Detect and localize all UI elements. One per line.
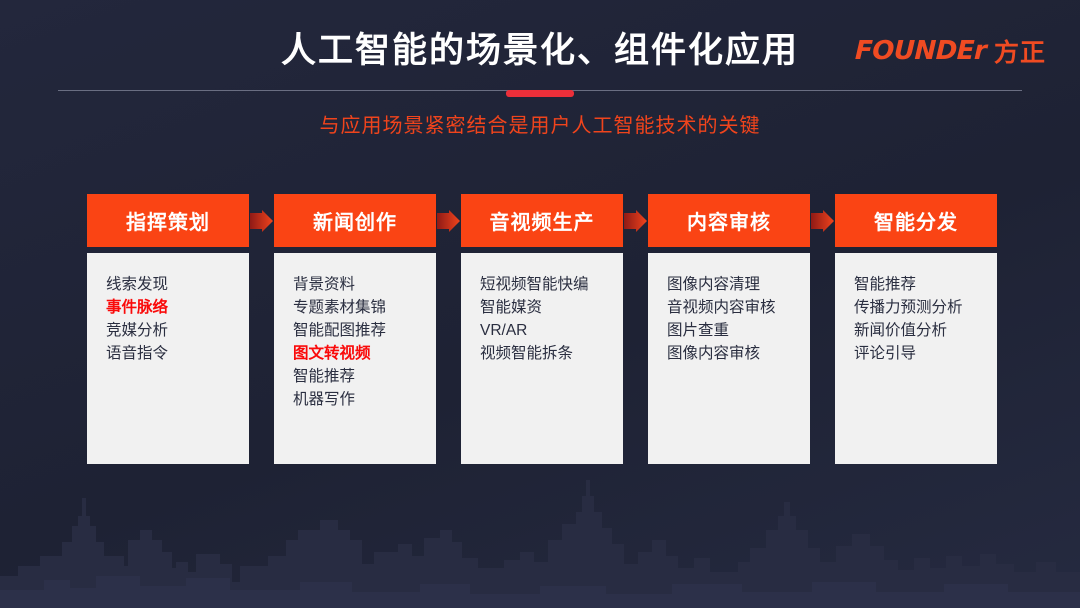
feature-item[interactable]: 线索发现 [106,273,249,296]
pipeline-card-header[interactable]: 新闻创作 [274,194,436,247]
city-skyline-decoration [0,468,1080,608]
flow-arrow-icon [437,210,460,232]
feature-item[interactable]: 智能配图推荐 [293,319,436,342]
pipeline-card-title: 新闻创作 [313,206,397,235]
pipeline-card-header[interactable]: 指挥策划 [87,194,249,247]
feature-item-highlighted[interactable]: 事件脉络 [106,296,249,319]
founder-logo: FOUNDEr 方正 [855,33,1046,69]
feature-item[interactable]: 短视频智能快编 [480,273,623,296]
feature-item[interactable]: 传播力预测分析 [854,296,997,319]
pipeline-card: 音视频生产短视频智能快编智能媒资VR/AR视频智能拆条 [461,194,623,464]
flow-arrow-icon [250,210,273,232]
pipeline-card-body: 背景资料专题素材集锦智能配图推荐图文转视频智能推荐机器写作 [274,253,436,464]
feature-item[interactable]: 专题素材集锦 [293,296,436,319]
logo-chinese-name: 方正 [994,33,1046,69]
feature-item[interactable]: 语音指令 [106,342,249,365]
page-subtitle: 与应用场景紧密结合是用户人工智能技术的关键 [0,109,1080,138]
feature-item[interactable]: 评论引导 [854,342,997,365]
feature-item[interactable]: VR/AR [480,319,623,342]
pipeline-card-body: 线索发现事件脉络竞媒分析语音指令 [87,253,249,464]
pipeline-card-title: 音视频生产 [490,206,595,235]
pipeline-card: 智能分发智能推荐传播力预测分析新闻价值分析评论引导 [835,194,997,464]
pipeline-card: 指挥策划线索发现事件脉络竞媒分析语音指令 [87,194,249,464]
feature-item-highlighted[interactable]: 图文转视频 [293,342,436,365]
pipeline-card: 新闻创作背景资料专题素材集锦智能配图推荐图文转视频智能推荐机器写作 [274,194,436,464]
pipeline-card-header[interactable]: 音视频生产 [461,194,623,247]
feature-item[interactable]: 图像内容清理 [667,273,810,296]
pipeline-card-title: 内容审核 [687,206,771,235]
feature-item[interactable]: 视频智能拆条 [480,342,623,365]
feature-item[interactable]: 竞媒分析 [106,319,249,342]
flow-arrow-icon [624,210,647,232]
feature-item[interactable]: 新闻价值分析 [854,319,997,342]
logo-wordmark: FOUNDEr [854,36,986,66]
feature-item[interactable]: 智能媒资 [480,296,623,319]
pipeline-card-row: 指挥策划线索发现事件脉络竞媒分析语音指令新闻创作背景资料专题素材集锦智能配图推荐… [87,194,998,464]
feature-item[interactable]: 智能推荐 [854,273,997,296]
feature-item[interactable]: 图片查重 [667,319,810,342]
feature-item[interactable]: 音视频内容审核 [667,296,810,319]
header-divider-accent [506,90,574,97]
feature-item[interactable]: 智能推荐 [293,365,436,388]
feature-item[interactable]: 机器写作 [293,388,436,411]
pipeline-card-header[interactable]: 智能分发 [835,194,997,247]
pipeline-card-header[interactable]: 内容审核 [648,194,810,247]
pipeline-card-body: 图像内容清理音视频内容审核图片查重图像内容审核 [648,253,810,464]
feature-item[interactable]: 背景资料 [293,273,436,296]
flow-arrow-icon [811,210,834,232]
pipeline-card-title: 指挥策划 [126,206,210,235]
pipeline-card: 内容审核图像内容清理音视频内容审核图片查重图像内容审核 [648,194,810,464]
pipeline-card-body: 智能推荐传播力预测分析新闻价值分析评论引导 [835,253,997,464]
pipeline-card-title: 智能分发 [874,206,958,235]
slide-canvas: 人工智能的场景化、组件化应用 FOUNDEr 方正 与应用场景紧密结合是用户人工… [0,0,1080,608]
feature-item[interactable]: 图像内容审核 [667,342,810,365]
pipeline-card-body: 短视频智能快编智能媒资VR/AR视频智能拆条 [461,253,623,464]
